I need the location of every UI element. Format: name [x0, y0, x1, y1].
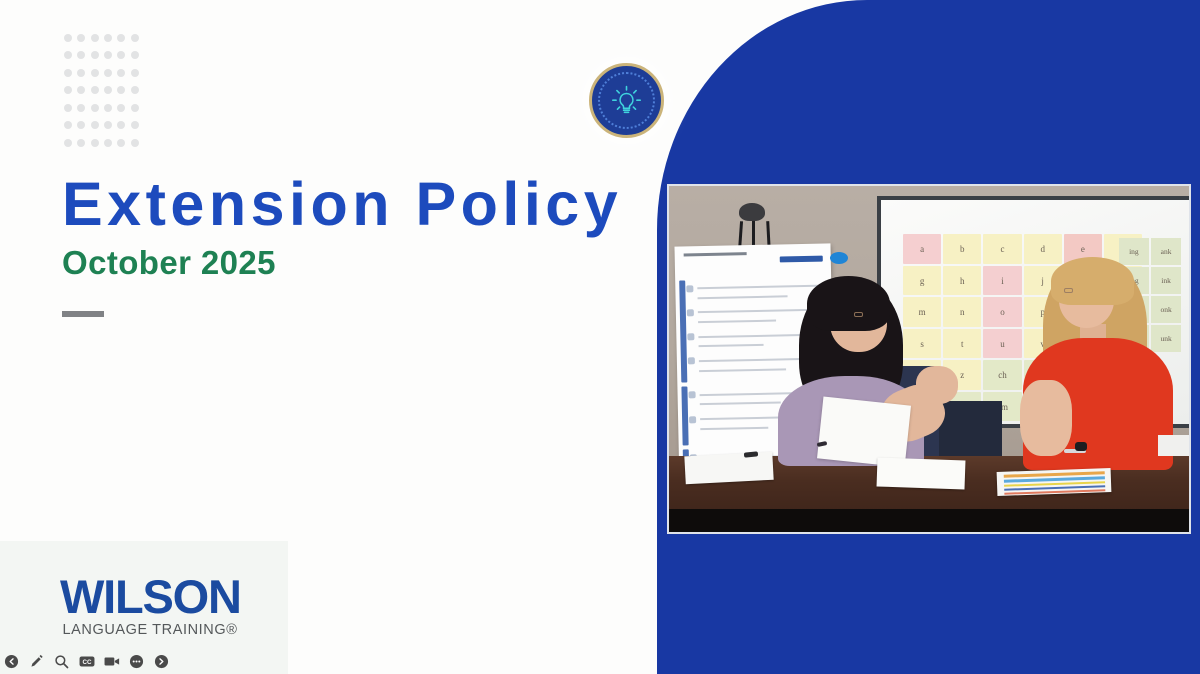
photo-person-right-arm	[1020, 380, 1072, 456]
back-button[interactable]	[3, 653, 20, 670]
slide-canvas: Extension Policy October 2025 WILSON LAN…	[0, 0, 1200, 674]
letter-card: onk	[1151, 296, 1181, 323]
photo-poster-sidebar	[681, 387, 688, 445]
title-block: Extension Policy October 2025	[62, 172, 642, 282]
photo-background-cabinet-2	[939, 401, 1001, 456]
wilson-logo: WILSON LANGUAGE TRAINING®	[60, 573, 240, 638]
letter-card: m	[903, 297, 941, 326]
photo-poster-clip	[830, 252, 848, 264]
photo-person-left-hand	[916, 366, 958, 404]
letter-card: unk	[1151, 325, 1181, 352]
letter-card: ch	[983, 360, 1021, 389]
photo-person-left-hair-top	[807, 276, 890, 331]
page-subtitle: October 2025	[62, 244, 642, 282]
photo-poster-header-bar	[779, 255, 823, 262]
letter-card: i	[983, 266, 1021, 295]
title-divider-rule	[62, 311, 104, 317]
photo-poster-title-line	[684, 252, 746, 256]
classroom-photo: a b c d e f g h i j k l m n o p qu r s t…	[667, 184, 1191, 534]
photo-table-edge	[669, 509, 1189, 532]
letter-card: a	[903, 234, 941, 263]
photo-person-right-hair-top	[1051, 257, 1134, 305]
player-toolbar[interactable]: CC	[3, 651, 170, 671]
photo-table-paper-left	[684, 452, 774, 484]
logo-wordmark: WILSON	[60, 573, 240, 620]
photo-chart-sheet	[996, 468, 1111, 496]
photo-paper-stack	[1158, 435, 1191, 456]
page-title: Extension Policy	[62, 172, 642, 238]
photo-easel-head	[739, 203, 765, 221]
lightbulb-badge	[589, 63, 664, 138]
photo-poster-sidebar	[679, 280, 687, 382]
photo-person-left-glasses	[854, 312, 863, 317]
logo-tagline: LANGUAGE TRAINING®	[60, 622, 240, 638]
letter-card: s	[903, 329, 941, 358]
ellipsis-icon[interactable]	[128, 653, 145, 670]
photo-person-left-paper	[817, 396, 911, 467]
letter-card: h	[943, 266, 981, 295]
letter-card: o	[983, 297, 1021, 326]
forward-button[interactable]	[153, 653, 170, 670]
letter-card: u	[983, 329, 1021, 358]
letter-card: g	[903, 266, 941, 295]
pencil-icon[interactable]	[28, 653, 45, 670]
search-icon[interactable]	[53, 653, 70, 670]
letter-card: n	[943, 297, 981, 326]
closed-captions-icon[interactable]: CC	[78, 653, 95, 670]
photo-person-right-watch	[1075, 442, 1087, 451]
letter-card: ink	[1151, 267, 1181, 294]
svg-text:CC: CC	[82, 659, 91, 666]
letter-card: c	[983, 234, 1021, 263]
letter-card: b	[943, 234, 981, 263]
decorative-dot-grid	[64, 34, 144, 156]
letter-card: d	[1024, 234, 1062, 263]
letter-card: ing	[1119, 238, 1149, 265]
letter-card: ank	[1151, 238, 1181, 265]
photo-person-right-glasses	[1064, 288, 1073, 293]
letter-card: t	[943, 329, 981, 358]
video-camera-icon[interactable]	[103, 653, 120, 670]
photo-table-paper-center	[877, 458, 966, 490]
